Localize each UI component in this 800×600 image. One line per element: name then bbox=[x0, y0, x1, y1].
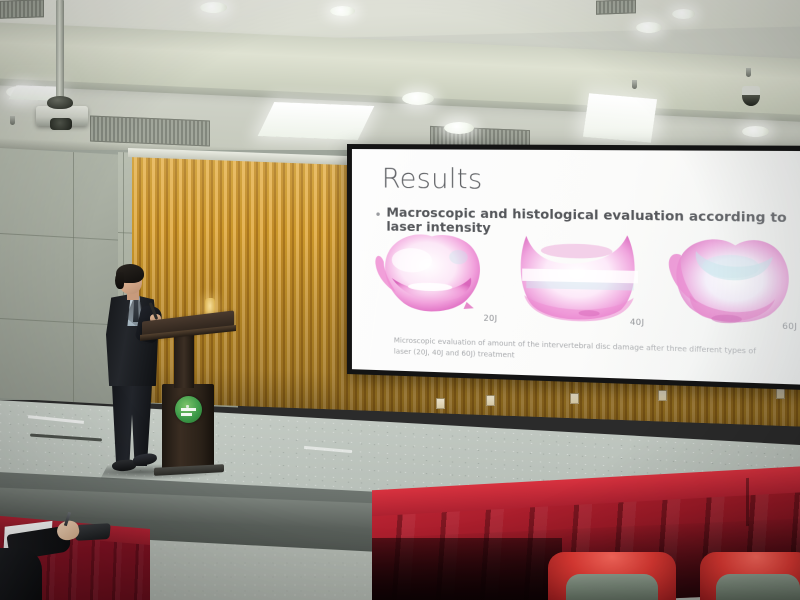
presenter-hair-side bbox=[115, 272, 124, 289]
table-underside-shadow bbox=[372, 538, 562, 600]
presentation-slide: Results • Macroscopic and histological e… bbox=[352, 149, 800, 385]
slide-title: Results bbox=[382, 163, 483, 195]
podium-neck bbox=[174, 334, 194, 388]
ceiling-downlight bbox=[200, 2, 227, 13]
ceiling-light-panel bbox=[258, 102, 375, 140]
histology-specimen-40j: 40J bbox=[512, 227, 651, 325]
projector-mount-pole bbox=[56, 0, 64, 100]
sprinkler-head bbox=[10, 116, 15, 125]
sprinkler-head bbox=[632, 80, 637, 89]
podium-emblem bbox=[175, 396, 202, 423]
sprinkler-head bbox=[746, 68, 751, 77]
slide-figure-caption: Microscopic evaluation of amount of the … bbox=[394, 335, 773, 368]
specimen-label: 60J bbox=[782, 321, 797, 331]
attendee-shoulder bbox=[0, 548, 42, 600]
wall-outlet bbox=[570, 393, 579, 404]
ceiling-downlight bbox=[636, 22, 662, 33]
projection-screen: Results • Macroscopic and histological e… bbox=[347, 144, 800, 391]
hvac-grille bbox=[596, 0, 636, 15]
projector-lens bbox=[50, 118, 72, 130]
histology-specimen-60j: 60J bbox=[659, 230, 800, 330]
projector-bracket bbox=[47, 96, 73, 109]
specimen-label: 20J bbox=[484, 314, 498, 324]
wall-outlet bbox=[436, 398, 445, 409]
wall-outlet bbox=[776, 388, 785, 399]
phone-case bbox=[75, 523, 111, 541]
ceiling-light-panel bbox=[583, 93, 657, 142]
wall-outlet bbox=[486, 395, 495, 406]
conference-hall-photo: Results • Macroscopic and histological e… bbox=[0, 0, 800, 600]
ceiling-downlight bbox=[402, 92, 434, 105]
histology-specimen-20j: 20J bbox=[370, 225, 504, 321]
ceiling-downlight bbox=[444, 122, 474, 134]
dome-security-camera-icon bbox=[742, 86, 760, 106]
audience-chair-seat bbox=[716, 574, 800, 600]
ceiling-downlight bbox=[330, 6, 355, 16]
table-cloth-seam bbox=[746, 478, 749, 526]
hvac-grille bbox=[0, 0, 44, 19]
ceiling-downlight bbox=[742, 126, 769, 137]
histology-figure-row: 20J bbox=[370, 225, 800, 329]
audience-chair-seat bbox=[566, 574, 658, 600]
specimen-label: 40J bbox=[630, 317, 644, 327]
ceiling-downlight bbox=[672, 9, 695, 19]
hvac-grille bbox=[90, 115, 210, 146]
bullet-marker-icon: • bbox=[376, 207, 381, 221]
emblem-glyph-icon bbox=[181, 404, 196, 416]
wall-outlet bbox=[658, 390, 667, 401]
